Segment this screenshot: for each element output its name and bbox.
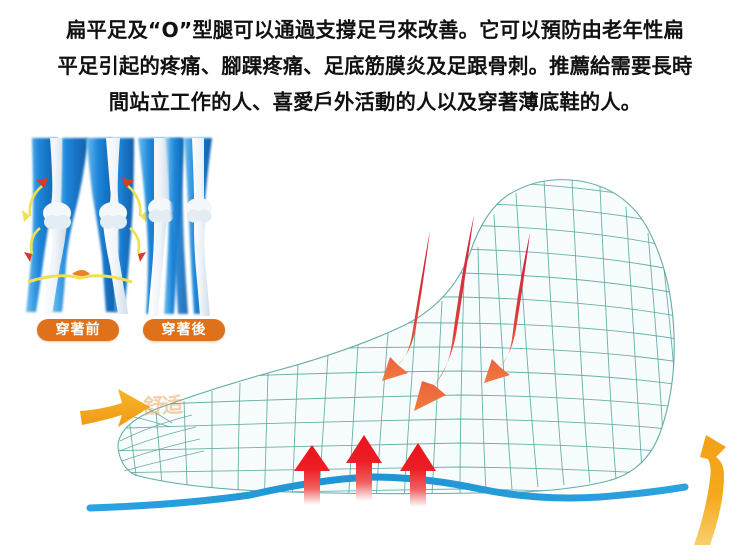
headline-line-1: 扁平足及“O”型腿可以通過支撐足弓來改善。它可以預防由老年性扁 xyxy=(8,12,742,48)
headline-line-3: 間站立工作的人、喜愛戶外活動的人以及穿著薄底鞋的人。 xyxy=(8,84,742,120)
product-description-page: 扁平足及“O”型腿可以通過支撐足弓來改善。它可以預防由老年性扁 平足引起的疼痛、… xyxy=(0,0,750,555)
headline-line-2: 平足引起的疼痛、腳踝疼痛、足底筋膜炎及足跟骨刺。推薦給需要長時 xyxy=(8,48,742,84)
orange-arrow-up-icon xyxy=(694,435,726,545)
foot-wireframe-diagram xyxy=(60,175,750,555)
page-title: 扁平足及“O”型腿可以通過支撐足弓來改善。它可以預防由老年性扁 平足引起的疼痛、… xyxy=(0,12,750,120)
foot-mesh-body xyxy=(60,175,750,555)
